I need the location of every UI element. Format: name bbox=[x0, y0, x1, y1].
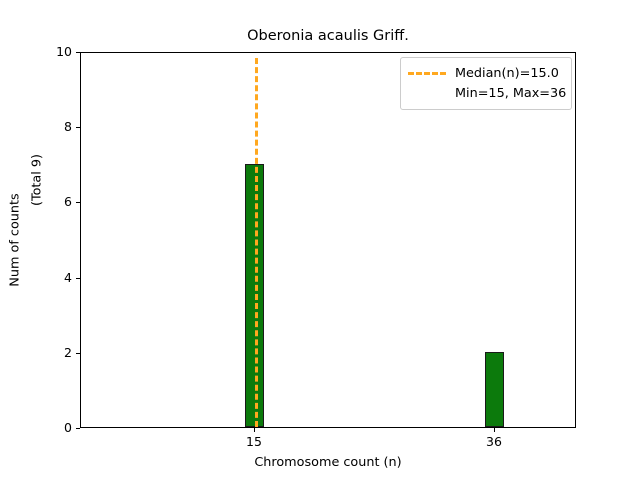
legend: Median(n)=15.0 Min=15, Max=36 bbox=[400, 57, 572, 110]
legend-label: Min=15, Max=36 bbox=[455, 86, 566, 101]
y-tick-label: 8 bbox=[64, 121, 72, 133]
figure-canvas: Oberonia acaulis Griff. 0 2 4 6 8 10 15 … bbox=[0, 0, 640, 480]
dashed-line-icon bbox=[408, 72, 446, 75]
y-tick-label: 6 bbox=[64, 196, 72, 208]
legend-entry-median: Median(n)=15.0 bbox=[408, 63, 564, 83]
x-tick-label: 36 bbox=[486, 435, 502, 449]
x-tick-mark bbox=[494, 428, 495, 432]
y-tick-label: 2 bbox=[64, 347, 72, 359]
y-axis-label: Num of counts bbox=[8, 193, 23, 286]
legend-entry-minmax: Min=15, Max=36 bbox=[408, 83, 564, 103]
x-tick-label: 15 bbox=[246, 435, 262, 449]
x-axis-label: Chromosome count (n) bbox=[80, 455, 576, 470]
y-tick-label: 0 bbox=[64, 422, 72, 434]
legend-label: Median(n)=15.0 bbox=[455, 66, 559, 81]
y-tick-label: 4 bbox=[64, 272, 72, 284]
y-tick-mark bbox=[76, 428, 80, 429]
y-axis-total-label: (Total 9) bbox=[30, 154, 45, 206]
x-tick-mark bbox=[254, 428, 255, 432]
median-line bbox=[255, 58, 258, 427]
y-axis-total-label-wrap: (Total 9) bbox=[22, 52, 52, 428]
bar-36[interactable] bbox=[485, 352, 504, 427]
page-title: Oberonia acaulis Griff. bbox=[80, 28, 576, 44]
y-tick-label: 10 bbox=[56, 46, 72, 58]
